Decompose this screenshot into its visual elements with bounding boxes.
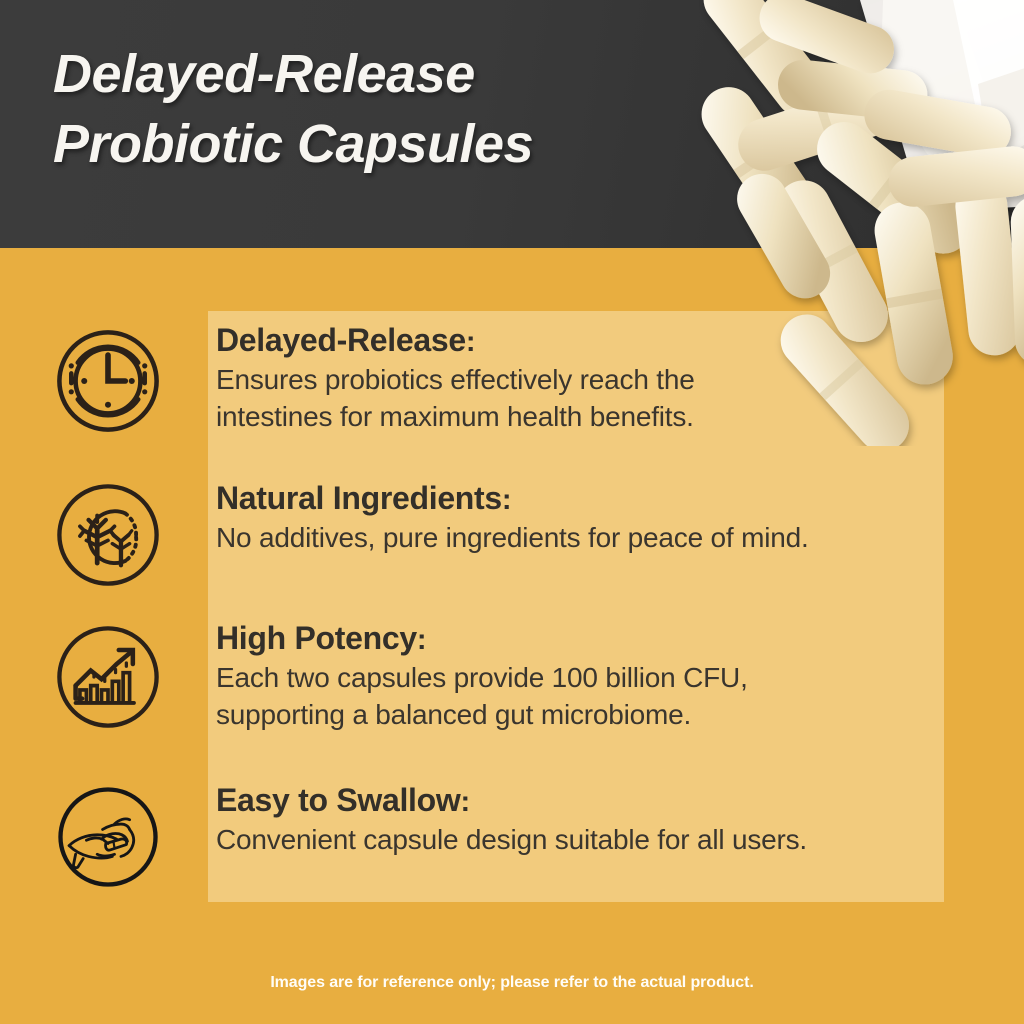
feature-row: Delayed-Release: Ensures probiotics effe… <box>0 323 960 435</box>
feature-body: Each two capsules provide 100 billion CF… <box>216 659 816 733</box>
feature-heading-text: High Potency <box>216 620 417 656</box>
feature-heading-colon: : <box>417 624 426 656</box>
feature-heading-colon: : <box>460 786 469 818</box>
feature-row: Natural Ingredients: No additives, pure … <box>0 481 960 589</box>
feature-heading-text: Easy to Swallow <box>216 782 460 818</box>
feature-icon-slot <box>0 783 216 891</box>
feature-icon-slot <box>0 323 216 435</box>
page-title-line-2: Probiotic Capsules <box>53 110 733 180</box>
feature-body: Convenient capsule design suitable for a… <box>216 821 916 858</box>
feature-text: Delayed-Release: Ensures probiotics effe… <box>216 323 960 435</box>
feature-icon-slot <box>0 621 216 733</box>
feature-row: High Potency: Each two capsules provide … <box>0 621 960 733</box>
feature-text: High Potency: Each two capsules provide … <box>216 621 960 733</box>
hand-capsule-icon <box>54 783 162 891</box>
feature-heading-text: Natural Ingredients <box>216 480 502 516</box>
growth-chart-icon <box>54 623 162 731</box>
feature-body: No additives, pure ingredients for peace… <box>216 519 916 556</box>
feature-heading-text: Delayed-Release <box>216 322 466 358</box>
page-title: Delayed-Release Probiotic Capsules <box>53 40 733 179</box>
feature-heading-colon: : <box>466 326 475 358</box>
feature-heading: Easy to Swallow: <box>216 783 940 819</box>
disclaimer-text: Images are for reference only; please re… <box>0 974 1024 992</box>
feature-heading-colon: : <box>502 484 511 516</box>
feature-heading: Natural Ingredients: <box>216 481 940 517</box>
page-title-line-1: Delayed-Release <box>53 40 733 110</box>
feature-heading: Delayed-Release: <box>216 323 940 359</box>
clock-icon <box>54 327 162 435</box>
feature-body: Ensures probiotics effectively reach the… <box>216 361 816 435</box>
product-infographic: Delayed-Release Probiotic Capsules <box>0 0 1024 1024</box>
feature-list: Delayed-Release: Ensures probiotics effe… <box>0 311 1024 902</box>
feature-heading: High Potency: <box>216 621 940 657</box>
feature-text: Natural Ingredients: No additives, pure … <box>216 481 960 589</box>
trees-icon <box>54 481 162 589</box>
feature-text: Easy to Swallow: Convenient capsule desi… <box>216 783 960 891</box>
feature-icon-slot <box>0 481 216 589</box>
feature-row: Easy to Swallow: Convenient capsule desi… <box>0 783 960 891</box>
